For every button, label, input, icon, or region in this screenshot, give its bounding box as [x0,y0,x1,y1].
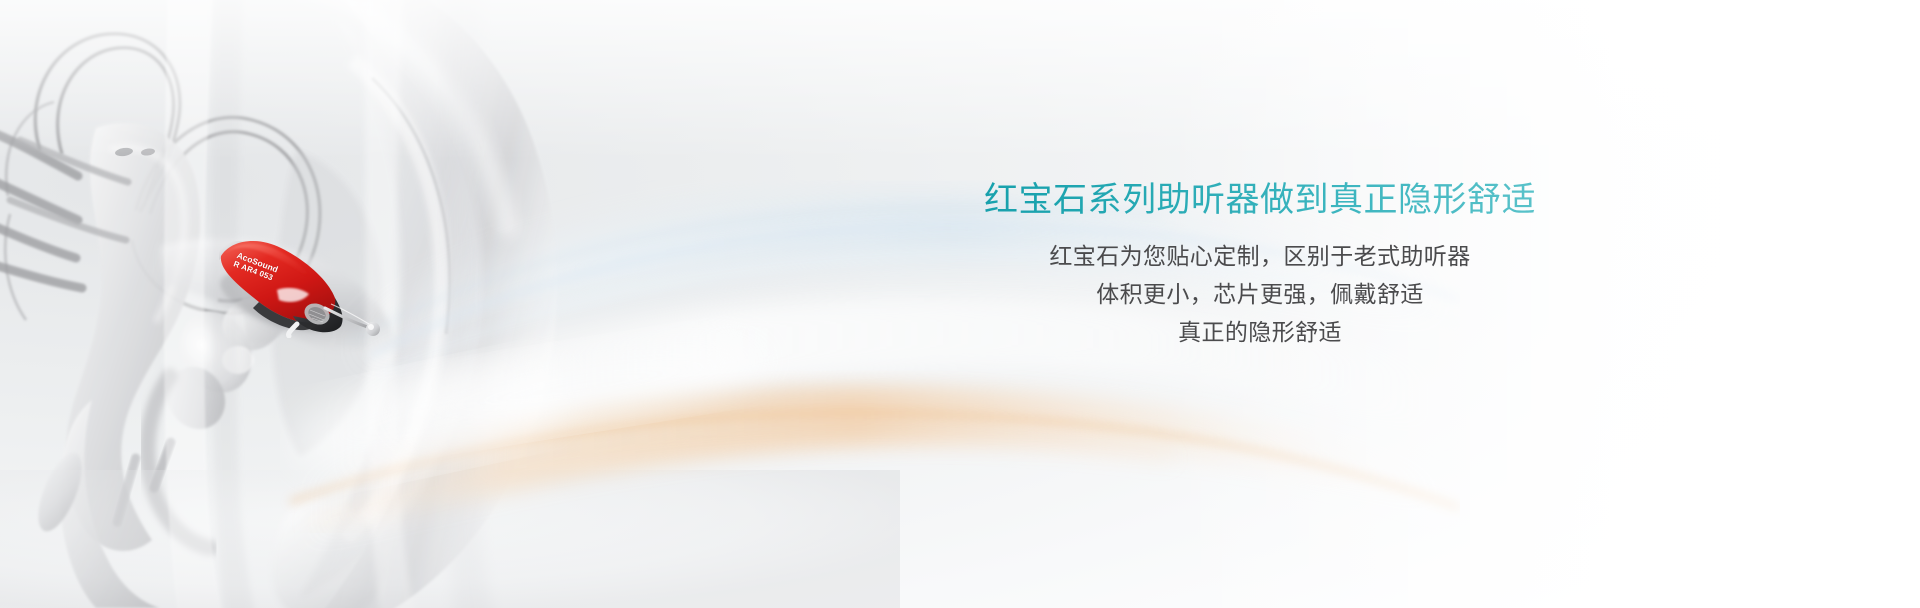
copy-block: 红宝石系列助听器做到真正隐形舒适 红宝石为您贴心定制，区别于老式助听器 体积更小… [760,178,1760,351]
body-line-3: 真正的隐形舒适 [760,313,1760,351]
hearing-aid-svg [205,228,405,338]
hero-banner: AcoSound R AR4 053 红宝石系列助听器做到真正隐形舒适 红宝石为… [0,0,1920,608]
hearing-aid-device: AcoSound R AR4 053 [205,228,405,338]
body-line-2: 体积更小，芯片更强，佩戴舒适 [760,275,1760,313]
body-line-1: 红宝石为您贴心定制，区别于老式助听器 [760,237,1760,275]
headline: 红宝石系列助听器做到真正隐形舒适 [760,178,1760,223]
body-copy: 红宝石为您贴心定制，区别于老式助听器 体积更小，芯片更强，佩戴舒适 真正的隐形舒… [760,237,1760,352]
